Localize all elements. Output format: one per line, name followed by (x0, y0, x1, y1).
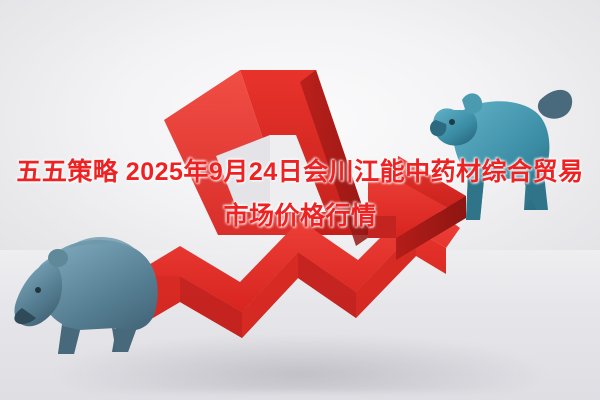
headline-text: 五五策略 2025年9月24日会川江能中药材综合贸易市场价格行情 (0, 150, 600, 238)
screenshot-root: 五五策略 2025年9月24日会川江能中药材综合贸易市场价格行情 (0, 0, 600, 400)
